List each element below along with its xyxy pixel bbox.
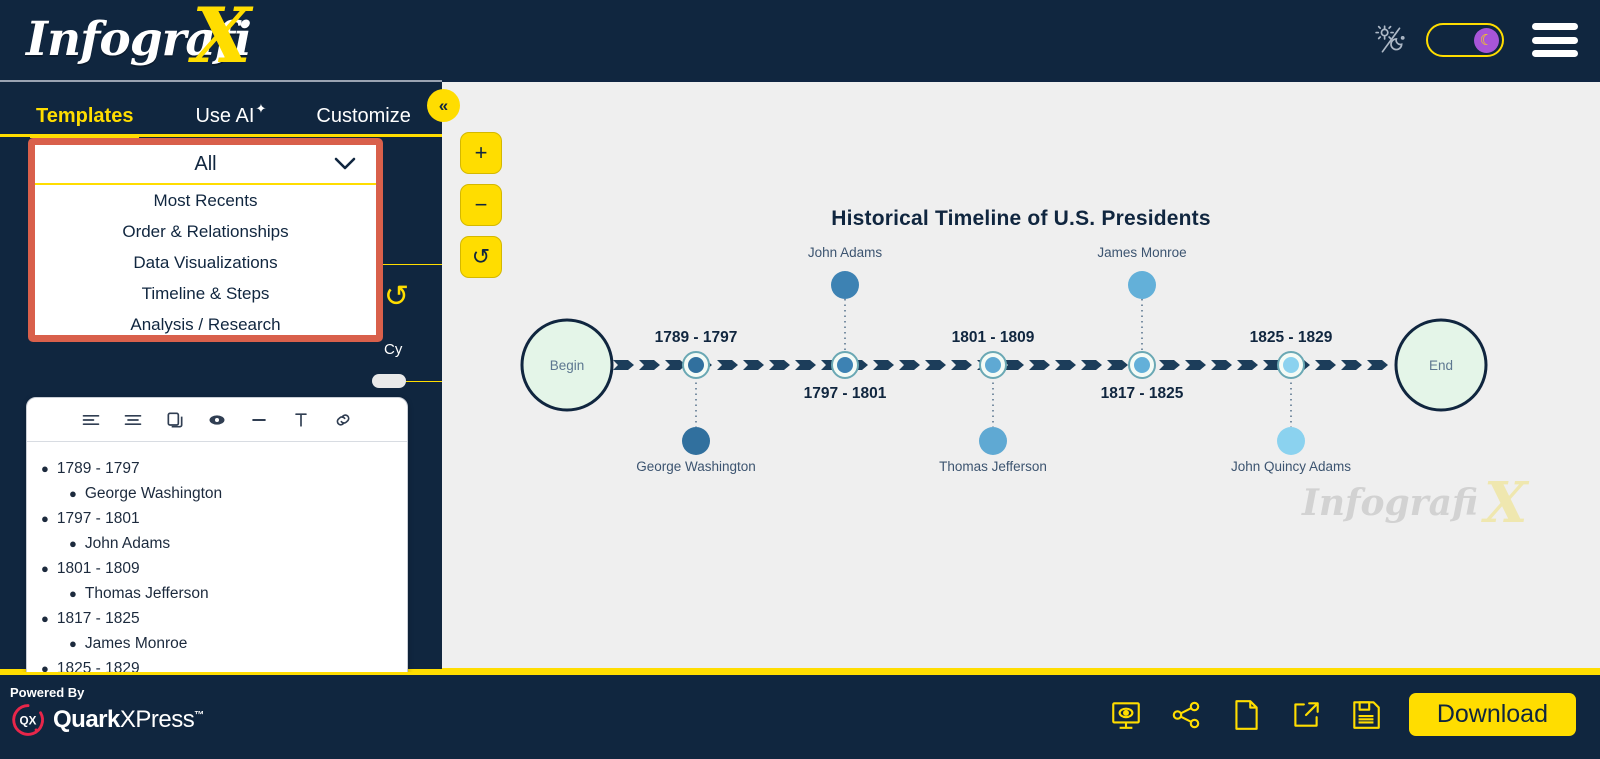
timeline-graphic: BeginEndGeorge Washington1789 - 1797John…: [442, 82, 1600, 670]
outline-toolbar: [27, 398, 407, 442]
svg-text:1797 - 1801: 1797 - 1801: [804, 385, 887, 402]
category-dropdown-value: All: [194, 153, 216, 176]
export-external-link-icon[interactable]: [1289, 698, 1323, 732]
powered-by-block: Powered By QX QuarkXPress™: [10, 685, 204, 738]
download-button[interactable]: Download: [1409, 693, 1576, 736]
quarkxpress-wordmark: QuarkXPress™: [53, 706, 204, 734]
category-dropdown-trigger[interactable]: All: [35, 145, 376, 185]
align-left-icon[interactable]: [81, 410, 101, 430]
infographic-canvas: + − ↺ Historical Timeline of U.S. Presid…: [442, 82, 1600, 670]
list-item[interactable]: ●James Monroe: [41, 631, 407, 656]
quarkxpress-logo-icon: QX: [10, 702, 46, 738]
list-item[interactable]: ●1801 - 1809: [41, 556, 407, 581]
top-bar: Infografi X ☾: [0, 0, 1600, 80]
document-icon[interactable]: [1229, 698, 1263, 732]
svg-text:1825 - 1829: 1825 - 1829: [1250, 329, 1333, 346]
dropdown-option-most-recents[interactable]: Most Recents: [35, 185, 376, 216]
svg-text:George Washington: George Washington: [636, 459, 756, 474]
bullet-icon: ●: [41, 462, 49, 475]
sparkle-icon: ✦: [255, 101, 266, 117]
template-card-peek[interactable]: ↺ Cy: [378, 264, 442, 382]
svg-text:1817 - 1825: 1817 - 1825: [1101, 385, 1184, 402]
share-icon[interactable]: [1169, 698, 1203, 732]
list-item[interactable]: ●George Washington: [41, 481, 407, 506]
template-card-label: Cy: [384, 341, 402, 358]
bullet-icon: ●: [69, 537, 77, 550]
align-center-icon[interactable]: [123, 410, 143, 430]
app-logo[interactable]: Infografi X: [24, 2, 254, 78]
dropdown-option-timeline-steps[interactable]: Timeline & Steps: [35, 278, 376, 309]
list-item[interactable]: ●1817 - 1825: [41, 606, 407, 631]
svg-text:Thomas Jefferson: Thomas Jefferson: [939, 459, 1047, 474]
bullet-icon: ●: [69, 637, 77, 650]
svg-text:John Adams: John Adams: [808, 245, 883, 260]
list-item[interactable]: ●Thomas Jefferson: [41, 581, 407, 606]
eye-icon[interactable]: [207, 410, 227, 430]
svg-text:1801 - 1809: 1801 - 1809: [952, 329, 1035, 346]
list-item[interactable]: ●1797 - 1801: [41, 506, 407, 531]
svg-text:1789 - 1797: 1789 - 1797: [655, 329, 738, 346]
theme-toggle[interactable]: ☾: [1426, 23, 1504, 57]
tab-templates[interactable]: Templates: [36, 105, 133, 134]
dropdown-option-data-visualizations[interactable]: Data Visualizations: [35, 247, 376, 278]
theme-toggle-knob: ☾: [1474, 28, 1499, 53]
template-pill-peek: [372, 374, 406, 388]
reset-view-button[interactable]: ↺: [460, 236, 502, 278]
list-item[interactable]: ●John Adams: [41, 531, 407, 556]
minus-icon[interactable]: [249, 410, 269, 430]
tab-use-ai[interactable]: Use AI ✦: [195, 105, 254, 134]
tabs-underline: [0, 134, 442, 137]
list-item[interactable]: ●1789 - 1797: [41, 456, 407, 481]
outline-list: ●1789 - 1797 ●George Washington ●1797 - …: [27, 442, 407, 706]
bullet-icon: ●: [41, 512, 49, 525]
bottom-bar: Powered By QX QuarkXPress™: [0, 672, 1600, 759]
top-bar-right-controls: ☾: [1374, 0, 1578, 80]
save-floppy-icon[interactable]: [1349, 698, 1383, 732]
bullet-icon: ●: [69, 587, 77, 600]
zoom-in-button[interactable]: +: [460, 132, 502, 174]
collapse-panel-button[interactable]: «: [427, 89, 460, 122]
panel-tabs: Templates Use AI ✦ Customize: [0, 82, 442, 134]
bullet-icon: ●: [41, 612, 49, 625]
category-dropdown[interactable]: All Most Recents Order & Relationships D…: [28, 138, 383, 342]
sun-moon-icon: [1374, 23, 1408, 57]
svg-text:End: End: [1429, 358, 1453, 373]
svg-text:John Quincy Adams: John Quincy Adams: [1231, 459, 1351, 474]
tab-customize[interactable]: Customize: [316, 105, 410, 134]
moon-icon: ☾: [1480, 33, 1493, 48]
dropdown-option-order-relationships[interactable]: Order & Relationships: [35, 216, 376, 247]
zoom-out-button[interactable]: −: [460, 184, 502, 226]
text-icon[interactable]: [291, 410, 311, 430]
svg-text:James Monroe: James Monroe: [1097, 245, 1186, 260]
link-icon[interactable]: [333, 410, 353, 430]
preview-monitor-icon[interactable]: [1109, 698, 1143, 732]
logo-x-glyph: X: [192, 0, 251, 74]
copy-icon[interactable]: [165, 410, 185, 430]
canvas-zoom-controls: + − ↺: [460, 132, 502, 278]
dropdown-option-analysis-research[interactable]: Analysis / Research: [35, 309, 376, 335]
bullet-icon: ●: [69, 487, 77, 500]
hamburger-menu-icon[interactable]: [1532, 23, 1578, 57]
chevron-down-icon: [332, 153, 358, 175]
cycle-icon: ↺: [384, 279, 409, 314]
bottom-action-bar: Download: [1109, 693, 1576, 736]
app-root: Infografi X ☾: [0, 0, 1600, 759]
svg-text:QX: QX: [20, 715, 37, 728]
bullet-icon: ●: [41, 562, 49, 575]
svg-text:Begin: Begin: [550, 358, 585, 373]
powered-by-label: Powered By: [10, 685, 204, 700]
